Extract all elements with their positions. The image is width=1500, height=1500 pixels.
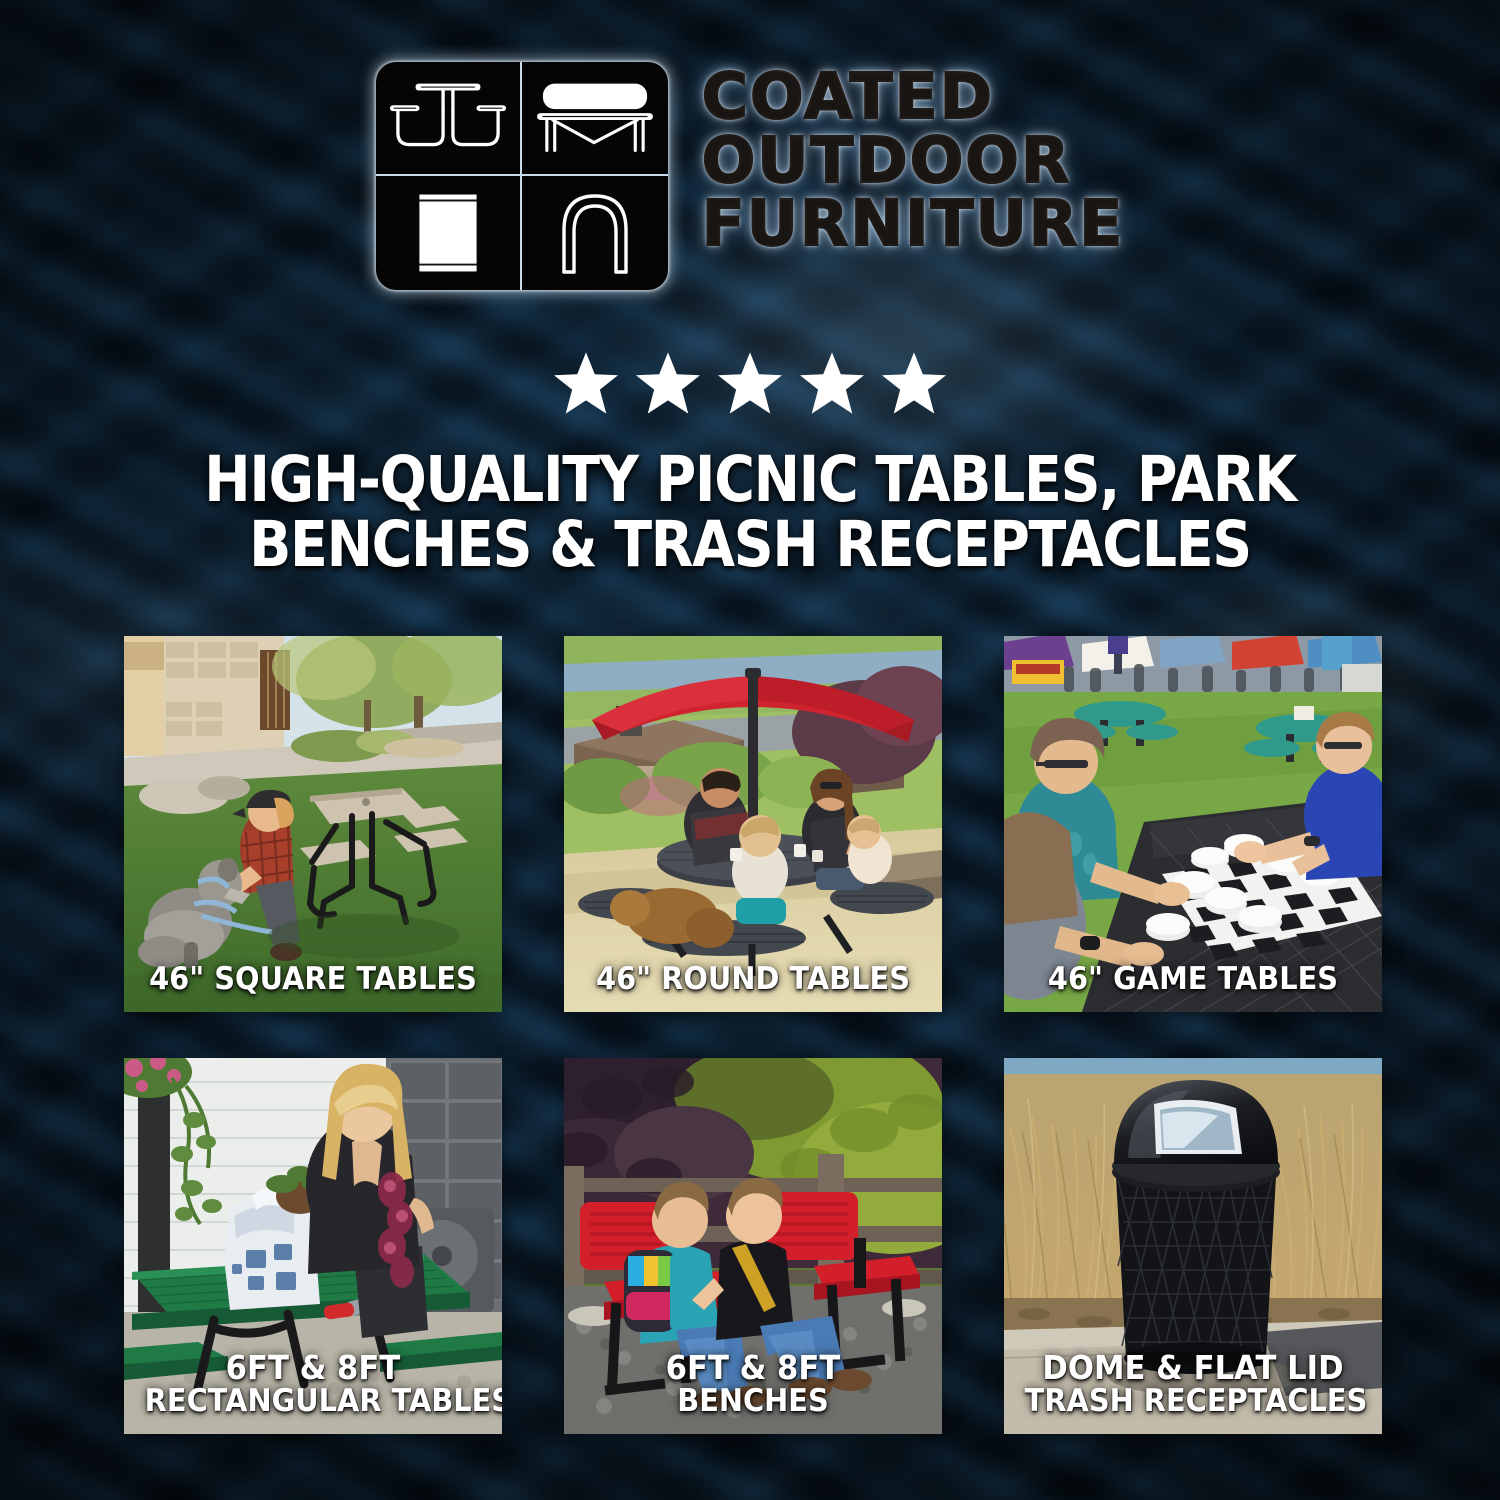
star-icon <box>882 352 946 414</box>
star-icon <box>718 352 782 414</box>
product-photo-square-tables <box>124 636 502 1012</box>
star-icon <box>554 352 618 414</box>
headline-line-1: HIGH-QUALITY PICNIC TABLES, PARK <box>152 448 1349 513</box>
tile-caption-square-tables: 46" SQUARE TABLES <box>124 963 502 996</box>
caption-line-2: RECTANGULAR TABLES <box>145 1385 482 1418</box>
product-grid: 46" SQUARE TABLES <box>124 636 1382 1434</box>
banner-root: COATED OUTDOOR FURNITURE HIGH-QUALITY PI… <box>0 0 1500 1500</box>
product-tile-game-tables[interactable]: 46" GAME TABLES <box>1004 636 1382 1012</box>
caption-line-1: 46" ROUND TABLES <box>585 963 922 996</box>
star-icon <box>636 352 700 414</box>
tile-caption-benches: 6FT & 8FT BENCHES <box>564 1351 942 1418</box>
headline-line-2: BENCHES & TRASH RECEPTACLES <box>152 513 1349 578</box>
wordmark-line-2: OUTDOOR <box>702 130 1125 192</box>
star-rating <box>0 352 1500 414</box>
product-tile-round-tables[interactable]: 46" ROUND TABLES <box>564 636 942 1012</box>
product-tile-square-tables[interactable]: 46" SQUARE TABLES <box>124 636 502 1012</box>
tile-caption-trash-receptacles: DOME & FLAT LID TRASH RECEPTACLES <box>1004 1351 1382 1418</box>
caption-line-1: 6FT & 8FT <box>145 1351 482 1386</box>
tile-caption-round-tables: 46" ROUND TABLES <box>564 963 942 996</box>
caption-line-2: BENCHES <box>585 1385 922 1418</box>
picnic-table-icon <box>376 62 522 176</box>
product-photo-game-tables <box>1004 636 1382 1012</box>
park-bench-icon <box>522 62 668 176</box>
caption-line-1: DOME & FLAT LID <box>1025 1351 1362 1386</box>
caption-line-1: 46" GAME TABLES <box>1025 963 1362 996</box>
product-photo-round-tables <box>564 636 942 1012</box>
dome-lid-trash-icon <box>522 176 668 290</box>
caption-line-1: 6FT & 8FT <box>585 1351 922 1386</box>
product-tile-trash-receptacles[interactable]: DOME & FLAT LID TRASH RECEPTACLES <box>1004 1058 1382 1434</box>
caption-line-2: TRASH RECEPTACLES <box>1025 1385 1362 1418</box>
wordmark-line-3: FURNITURE <box>702 193 1125 255</box>
product-tile-rectangular-tables[interactable]: 6FT & 8FT RECTANGULAR TABLES <box>124 1058 502 1434</box>
banner-content: COATED OUTDOOR FURNITURE HIGH-QUALITY PI… <box>0 0 1500 1500</box>
brand-wordmark: COATED OUTDOOR FURNITURE <box>702 62 1125 255</box>
tile-caption-game-tables: 46" GAME TABLES <box>1004 963 1382 996</box>
wordmark-line-1: COATED <box>702 66 1125 128</box>
page-title: HIGH-QUALITY PICNIC TABLES, PARK BENCHES… <box>70 448 1430 578</box>
brand-logo: COATED OUTDOOR FURNITURE <box>0 62 1500 290</box>
flat-lid-trash-icon <box>376 176 522 290</box>
product-tile-benches[interactable]: 6FT & 8FT BENCHES <box>564 1058 942 1434</box>
tile-caption-rectangular-tables: 6FT & 8FT RECTANGULAR TABLES <box>124 1351 502 1418</box>
star-icon <box>800 352 864 414</box>
four-quadrant-furniture-logo <box>376 62 668 290</box>
caption-line-1: 46" SQUARE TABLES <box>145 963 482 996</box>
